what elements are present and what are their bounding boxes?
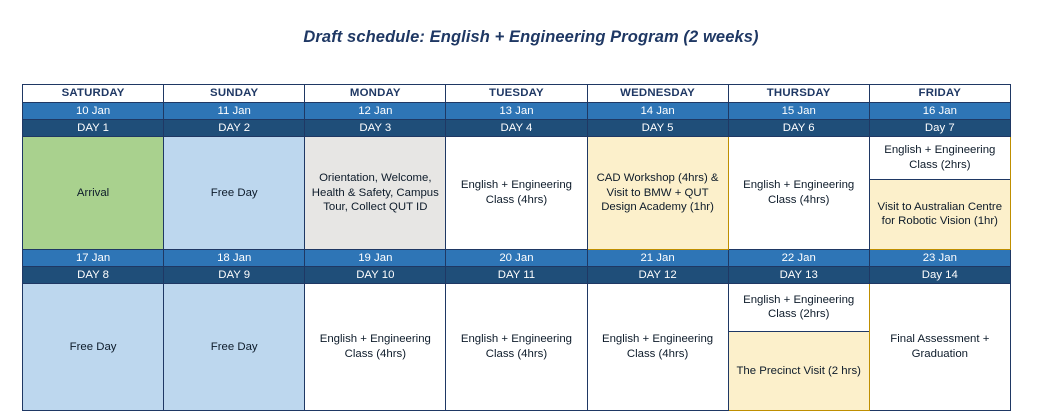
- week2-date-7: 23 Jan: [869, 250, 1010, 267]
- week1-daynum-2: DAY 2: [164, 120, 305, 137]
- week1-date-6: 15 Jan: [728, 103, 869, 120]
- week2-date-6: 22 Jan: [728, 250, 869, 267]
- week1-activity-wednesday: CAD Workshop (4hrs) & Visit to BMW + QUT…: [587, 137, 728, 250]
- week1-daynum-3: DAY 3: [305, 120, 446, 137]
- schedule-table-container: SATURDAY SUNDAY MONDAY TUESDAY WEDNESDAY…: [22, 84, 1010, 411]
- week1-daynum-6: DAY 6: [728, 120, 869, 137]
- week1-date-1: 10 Jan: [23, 103, 164, 120]
- week1-day-number-row: DAY 1 DAY 2 DAY 3 DAY 4 DAY 5 DAY 6 Day …: [23, 120, 1011, 137]
- week2-activity-row: Free Day Free Day English + Engineering …: [23, 284, 1011, 411]
- day-name-monday: MONDAY: [305, 85, 446, 103]
- week2-activity-thursday: English + Engineering Class (2hrs) The P…: [728, 284, 869, 411]
- week1-activity-sunday: Free Day: [164, 137, 305, 250]
- week2-daynum-4: DAY 11: [446, 267, 587, 284]
- day-name-tuesday: TUESDAY: [446, 85, 587, 103]
- week2-activity-friday: Final Assessment + Graduation: [869, 284, 1010, 411]
- week1-date-7: 16 Jan: [869, 103, 1010, 120]
- week2-thursday-excursion: The Precinct Visit (2 hrs): [729, 332, 869, 410]
- day-name-wednesday: WEDNESDAY: [587, 85, 728, 103]
- week2-day-number-row: DAY 8 DAY 9 DAY 10 DAY 11 DAY 12 DAY 13 …: [23, 267, 1011, 284]
- week1-activity-friday: English + Engineering Class (2hrs) Visit…: [869, 137, 1010, 250]
- week1-friday-excursion: Visit to Australian Centre for Robotic V…: [870, 180, 1010, 249]
- week2-date-2: 18 Jan: [164, 250, 305, 267]
- week1-daynum-7: Day 7: [869, 120, 1010, 137]
- week2-activity-sunday: Free Day: [164, 284, 305, 411]
- day-name-header-row: SATURDAY SUNDAY MONDAY TUESDAY WEDNESDAY…: [23, 85, 1011, 103]
- page-title: Draft schedule: English + Engineering Pr…: [0, 0, 1062, 48]
- day-name-saturday: SATURDAY: [23, 85, 164, 103]
- week1-date-2: 11 Jan: [164, 103, 305, 120]
- week1-date-5: 14 Jan: [587, 103, 728, 120]
- day-name-sunday: SUNDAY: [164, 85, 305, 103]
- week2-daynum-1: DAY 8: [23, 267, 164, 284]
- schedule-table: SATURDAY SUNDAY MONDAY TUESDAY WEDNESDAY…: [22, 84, 1011, 411]
- week2-date-3: 19 Jan: [305, 250, 446, 267]
- week1-daynum-4: DAY 4: [446, 120, 587, 137]
- week2-date-5: 21 Jan: [587, 250, 728, 267]
- week1-activity-monday: Orientation, Welcome, Health & Safety, C…: [305, 137, 446, 250]
- week2-daynum-7: Day 14: [869, 267, 1010, 284]
- week1-activity-thursday: English + Engineering Class (4hrs): [728, 137, 869, 250]
- week2-activity-wednesday: English + Engineering Class (4hrs): [587, 284, 728, 411]
- week2-activity-tuesday: English + Engineering Class (4hrs): [446, 284, 587, 411]
- week1-daynum-5: DAY 5: [587, 120, 728, 137]
- day-name-friday: FRIDAY: [869, 85, 1010, 103]
- week2-activity-saturday: Free Day: [23, 284, 164, 411]
- week1-friday-class: English + Engineering Class (2hrs): [870, 137, 1010, 180]
- week2-date-row: 17 Jan 18 Jan 19 Jan 20 Jan 21 Jan 22 Ja…: [23, 250, 1011, 267]
- week2-daynum-3: DAY 10: [305, 267, 446, 284]
- week2-daynum-2: DAY 9: [164, 267, 305, 284]
- week1-activity-row: Arrival Free Day Orientation, Welcome, H…: [23, 137, 1011, 250]
- week1-activity-tuesday: English + Engineering Class (4hrs): [446, 137, 587, 250]
- day-name-thursday: THURSDAY: [728, 85, 869, 103]
- week2-daynum-5: DAY 12: [587, 267, 728, 284]
- week1-activity-saturday: Arrival: [23, 137, 164, 250]
- week2-thursday-class: English + Engineering Class (2hrs): [729, 284, 869, 332]
- week1-date-row: 10 Jan 11 Jan 12 Jan 13 Jan 14 Jan 15 Ja…: [23, 103, 1011, 120]
- week2-date-4: 20 Jan: [446, 250, 587, 267]
- week2-activity-monday: English + Engineering Class (4hrs): [305, 284, 446, 411]
- week1-date-3: 12 Jan: [305, 103, 446, 120]
- week2-daynum-6: DAY 13: [728, 267, 869, 284]
- week2-date-1: 17 Jan: [23, 250, 164, 267]
- week1-date-4: 13 Jan: [446, 103, 587, 120]
- week1-daynum-1: DAY 1: [23, 120, 164, 137]
